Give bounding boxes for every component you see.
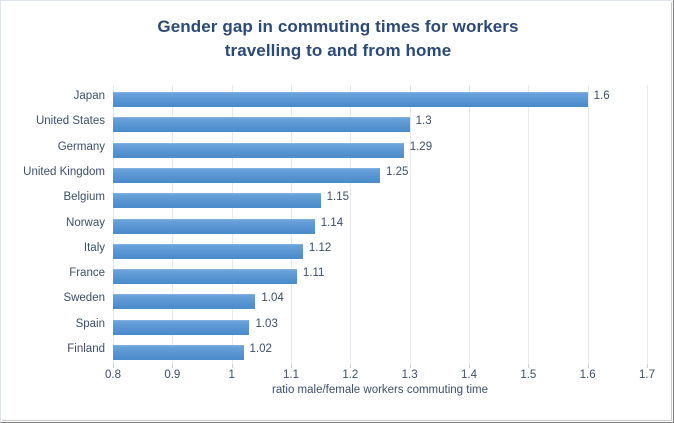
bar-row: 1.02 [113,339,647,365]
bar-row: 1.14 [113,213,647,239]
x-axis-title: ratio male/female workers commuting time [113,384,647,396]
bar-row: 1.25 [113,162,647,188]
bar-value-label: 1.25 [386,166,408,178]
x-tick-mark [113,364,114,368]
category-label: Spain [1,318,105,330]
x-tick-label: 1.7 [639,369,655,381]
bar-value-label: 1.29 [410,141,432,153]
bar-value-label: 1.02 [250,343,272,355]
x-tick-label: 1 [228,369,234,381]
bar-row: 1.29 [113,137,647,163]
bar-row: 1.11 [113,263,647,289]
bar[interactable] [113,92,588,107]
category-label: France [1,267,105,279]
bar-value-label: 1.12 [309,242,331,254]
bar-row: 1.6 [113,86,647,112]
bar-value-label: 1.11 [303,267,325,279]
x-tick-label: 1.5 [520,369,536,381]
x-tick-mark [232,364,233,368]
category-label: Finland [1,343,105,355]
category-label: United States [1,115,105,127]
bar-value-label: 1.03 [255,318,277,330]
x-axis-ticks: 0.80.911.11.21.31.41.51.61.7 [113,364,647,384]
x-tick-mark [172,364,173,368]
chart-title-line-1: Gender gap in commuting times for worker… [157,17,518,36]
bar-value-label: 1.6 [594,90,610,102]
x-tick-mark [588,364,589,368]
gridline [647,85,648,363]
plot-area: 1.61.31.291.251.151.141.121.111.041.031.… [113,85,647,363]
category-label: Sweden [1,292,105,304]
x-tick-label: 1.4 [461,369,477,381]
chart-container: Gender gap in commuting times for worker… [0,0,674,423]
bar[interactable] [113,168,380,183]
bar[interactable] [113,294,255,309]
bar[interactable] [113,269,297,284]
bar-row: 1.3 [113,111,647,137]
x-tick-label: 1.3 [402,369,418,381]
x-tick-mark [291,364,292,368]
category-label: Germany [1,141,105,153]
bar-row: 1.03 [113,314,647,340]
bar[interactable] [113,219,315,234]
category-label: Belgium [1,191,105,203]
category-label: United Kingdom [1,166,105,178]
x-tick-label: 1.6 [580,369,596,381]
x-tick-label: 0.9 [164,369,180,381]
category-label: Italy [1,242,105,254]
x-tick-mark [350,364,351,368]
bar-row: 1.04 [113,288,647,314]
bar[interactable] [113,345,244,360]
bar-value-label: 1.3 [416,115,432,127]
bar-value-label: 1.15 [327,191,349,203]
x-tick-mark [528,364,529,368]
bar-value-label: 1.14 [321,217,343,229]
x-tick-label: 1.2 [342,369,358,381]
category-axis: JapanUnited StatesGermanyUnited KingdomB… [1,85,113,363]
bar[interactable] [113,320,249,335]
x-tick-mark [647,364,648,368]
x-tick-label: 1.1 [283,369,299,381]
bar-row: 1.12 [113,238,647,264]
bar[interactable] [113,193,321,208]
bar-value-label: 1.04 [261,292,283,304]
bar[interactable] [113,244,303,259]
chart-title: Gender gap in commuting times for worker… [1,15,674,63]
x-tick-mark [410,364,411,368]
x-tick-label: 0.8 [105,369,121,381]
x-tick-mark [469,364,470,368]
chart-title-line-2: travelling to and from home [1,39,674,63]
bar-row: 1.15 [113,187,647,213]
category-label: Norway [1,217,105,229]
bar[interactable] [113,143,404,158]
category-label: Japan [1,90,105,102]
bar[interactable] [113,117,410,132]
